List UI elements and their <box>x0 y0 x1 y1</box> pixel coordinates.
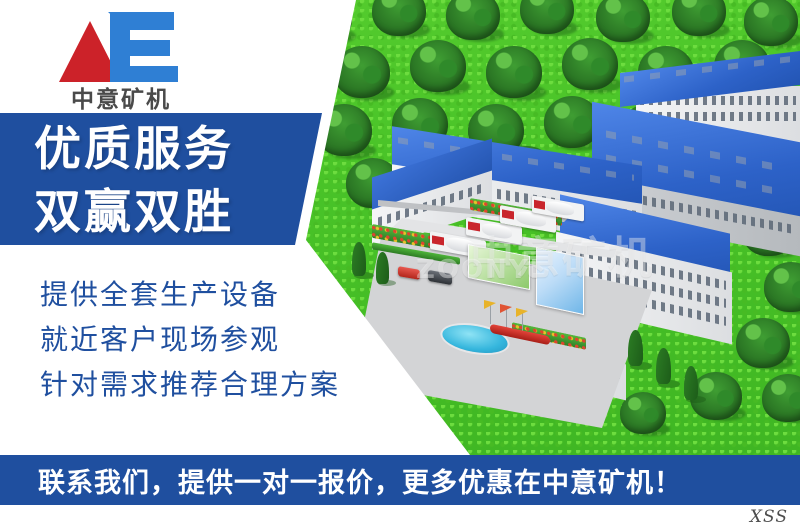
cta-banner-text: 联系我们，提供一对一报价，更多优惠在中意矿机！ <box>38 461 682 500</box>
company-logo: 中意矿机 <box>46 8 196 112</box>
billboard-product <box>536 247 584 315</box>
benefit-item: 针对需求推荐合理方案 <box>40 362 340 407</box>
benefit-item: 就近客户现场参观 <box>40 317 340 362</box>
headline-line-1: 优质服务 <box>34 118 334 181</box>
benefit-list: 提供全套生产设备 就近客户现场参观 针对需求推荐合理方案 <box>40 272 340 407</box>
headline-line-2: 双赢双胜 <box>34 181 334 244</box>
promo-poster: 中意矿机 ZOONYI 中意矿机 优质服务 双赢双胜 提供全套生产设备 就近客户… <box>0 0 800 530</box>
cta-banner: 联系我们，提供一对一报价，更多优惠在中意矿机！ <box>0 455 800 505</box>
logo-wordmark: 中意矿机 <box>46 80 196 114</box>
benefit-item: 提供全套生产设备 <box>40 272 340 317</box>
footer-watermark: XSS <box>750 507 788 527</box>
headline-block: 优质服务 双赢双胜 <box>34 118 334 244</box>
footer-strip <box>0 505 800 530</box>
triangle-e-logo-icon <box>46 8 196 86</box>
